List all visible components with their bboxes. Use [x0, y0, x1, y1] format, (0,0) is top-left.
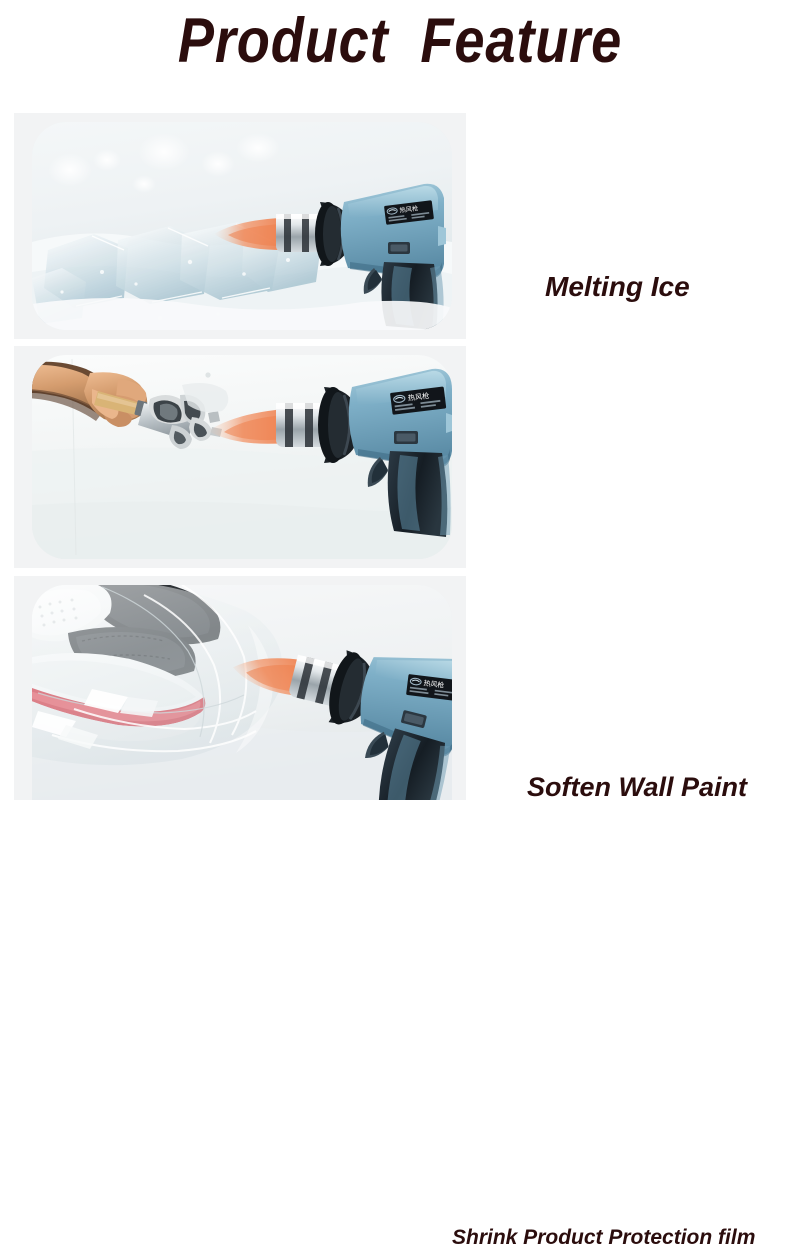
melting-ice-scene: 热风枪 — [32, 122, 452, 330]
feature-panel-3: 热风枪 — [14, 576, 466, 800]
page-title: Product Feature — [56, 8, 744, 74]
feature-image-1: 热风枪 — [32, 122, 452, 330]
feature-row-1: 热风枪 — [0, 113, 800, 339]
feature-image-2: 热风枪 — [32, 355, 452, 559]
feature-caption-3: Shrink Product Protection film — [452, 1226, 755, 1250]
product-feature-page: Product Feature — [0, 0, 800, 800]
feature-image-3: 热风枪 — [32, 585, 452, 800]
shrink-film-scene: 热风枪 — [32, 585, 452, 800]
feature-caption-1: Melting Ice — [545, 271, 690, 303]
feature-panel-1: 热风枪 — [14, 113, 466, 339]
feature-row-2: 热风枪 — [0, 346, 800, 568]
feature-row-3: 热风枪 — [0, 576, 800, 800]
feature-panel-2: 热风枪 — [14, 346, 466, 568]
soften-wall-paint-scene: 热风枪 — [32, 355, 452, 559]
